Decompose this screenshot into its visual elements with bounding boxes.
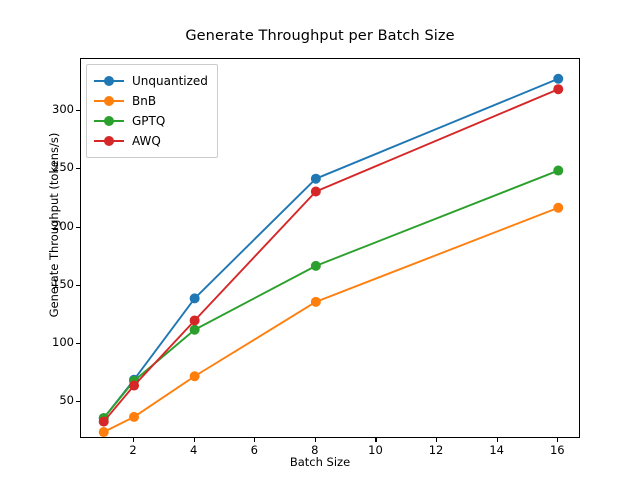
y-tick-label: 150 [34,279,74,290]
x-tick-label: 10 [355,443,395,457]
series-gptq [99,166,564,424]
legend-marker-icon [94,114,124,128]
data-point [190,325,200,335]
data-point [553,74,563,84]
legend-marker-icon [94,134,124,148]
y-tick-label: 300 [34,104,74,115]
data-point [129,381,139,391]
legend-item-unquantized[interactable]: Unquantized [94,71,208,91]
legend-item-bnb[interactable]: BnB [94,91,208,111]
data-point [99,417,109,427]
x-tick-label: 4 [174,443,214,457]
x-tick-label: 6 [234,443,274,457]
y-tick-label: 200 [34,221,74,232]
series-line [104,208,559,432]
data-point [553,84,563,94]
data-point [190,371,200,381]
chart-figure: Generate Throughput per Batch Size Gener… [0,0,640,480]
x-tick-label: 2 [113,443,153,457]
data-point [190,315,200,325]
data-point [129,412,139,422]
data-point [553,166,563,176]
data-point [311,186,321,196]
legend-label: GPTQ [132,114,165,128]
legend-marker-icon [94,74,124,88]
x-tick-label: 14 [477,443,517,457]
series-line [104,171,559,419]
legend: UnquantizedBnBGPTQAWQ [86,64,218,158]
data-point [99,427,109,437]
x-tick-label: 8 [295,443,335,457]
legend-marker-icon [94,94,124,108]
x-tick-label: 12 [416,443,456,457]
series-bnb [99,203,564,437]
chart-title: Generate Throughput per Batch Size [0,28,640,44]
data-point [190,293,200,303]
data-point [553,203,563,213]
y-tick-label: 100 [34,337,74,348]
legend-label: Unquantized [132,74,208,88]
legend-item-awq[interactable]: AWQ [94,131,208,151]
data-point [311,297,321,307]
x-tick-label: 16 [537,443,577,457]
data-point [311,174,321,184]
legend-item-gptq[interactable]: GPTQ [94,111,208,131]
legend-label: AWQ [132,134,161,148]
y-tick-label: 250 [34,162,74,173]
data-point [311,261,321,271]
legend-label: BnB [132,94,156,108]
y-tick-label: 50 [34,395,74,406]
x-axis-label: Batch Size [0,455,640,469]
